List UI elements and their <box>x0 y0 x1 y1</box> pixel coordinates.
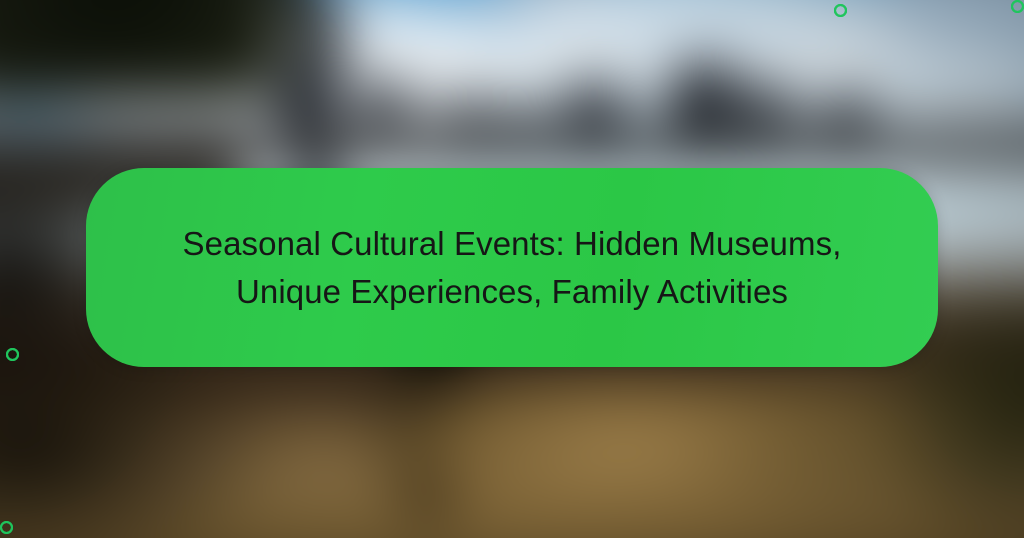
title-panel: Seasonal Cultural Events: Hidden Museums… <box>86 168 938 367</box>
decorative-ring <box>6 348 19 361</box>
header-card: Seasonal Cultural Events: Hidden Museums… <box>0 0 1024 538</box>
page-title-line-2: Unique Experiences, Family Activities <box>132 268 892 316</box>
page-title-line-1: Seasonal Cultural Events: Hidden Museums… <box>132 220 892 268</box>
dot-grid-bottom-left <box>0 348 190 538</box>
decorative-ring <box>1011 0 1024 13</box>
decorative-ring <box>834 4 847 17</box>
dot-grid-top-right <box>834 0 1024 190</box>
decorative-ring <box>0 521 13 534</box>
page-title: Seasonal Cultural Events: Hidden Museums… <box>132 220 892 316</box>
